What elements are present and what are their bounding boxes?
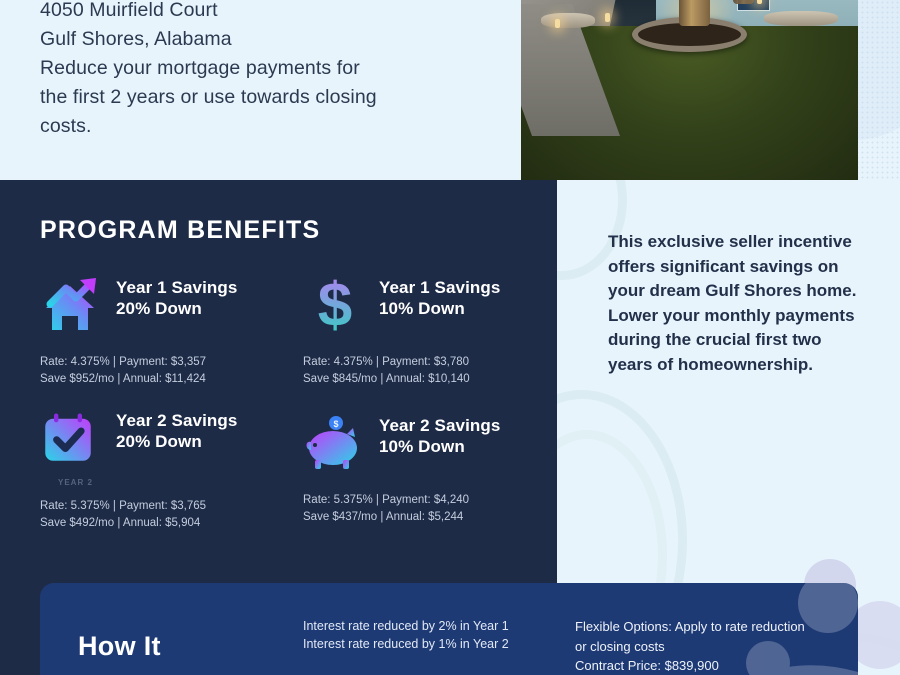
benefit-card-details: Rate: 4.375% | Payment: $3,780 Save $845… — [303, 354, 470, 388]
benefit-card-details: Rate: 4.375% | Payment: $3,357 Save $952… — [40, 354, 206, 388]
house-growth-arrow-icon — [40, 272, 104, 336]
dollar-sign-icon: $ — [303, 272, 367, 336]
photo-path-light-3 — [757, 0, 762, 4]
benefit-card-details: Rate: 5.375% | Payment: $3,765 Save $492… — [40, 498, 206, 532]
benefit-card-heading: Year 2 Savings 10% Down — [379, 415, 500, 457]
benefit-card-heading: Year 2 Savings 20% Down — [116, 410, 237, 452]
calendar-check-icon — [40, 410, 96, 466]
highlight-paragraph: This exclusive seller incentive offers s… — [608, 230, 868, 377]
address-line-1: 4050 Muirfield Court — [40, 0, 490, 25]
photo-palm-trunk-secondary — [733, 0, 753, 4]
photo-rock-border-right — [764, 11, 838, 26]
svg-text:$: $ — [333, 419, 338, 429]
photo-palm-trunk — [679, 0, 709, 26]
property-photo-scene — [521, 0, 858, 180]
address-line-2: Gulf Shores, Alabama — [40, 25, 490, 54]
how-it-works-card: How It Interest rate reduced by 2% in Ye… — [40, 583, 858, 675]
svg-text:$: $ — [318, 272, 352, 336]
property-address-block: 4050 Muirfield Court Gulf Shores, Alabam… — [40, 0, 490, 141]
header-section: 4050 Muirfield Court Gulf Shores, Alabam… — [0, 0, 900, 180]
photo-rock-border-left — [541, 13, 595, 28]
benefit-card-details: Rate: 5.375% | Payment: $4,240 Save $437… — [303, 492, 469, 526]
program-benefits-title: PROGRAM BENEFITS — [40, 216, 320, 245]
piggy-bank-icon: $ — [303, 410, 367, 474]
photo-path-light-2 — [605, 13, 610, 22]
how-it-works-column-1: Interest rate reduced by 2% in Year 1 In… — [303, 617, 563, 653]
property-photo — [521, 0, 858, 180]
photo-path-light-1 — [555, 19, 560, 28]
benefit-card-heading: Year 1 Savings 10% Down — [379, 277, 500, 319]
property-tagline: Reduce your mortgage payments for the fi… — [40, 54, 490, 141]
benefit-card-heading: Year 1 Savings 20% Down — [116, 277, 237, 319]
calendar-icon-year-label: YEAR 2 — [58, 478, 93, 487]
how-it-works-column-2: Flexible Options: Apply to rate reductio… — [575, 617, 858, 675]
how-it-works-title: How It — [78, 631, 161, 662]
